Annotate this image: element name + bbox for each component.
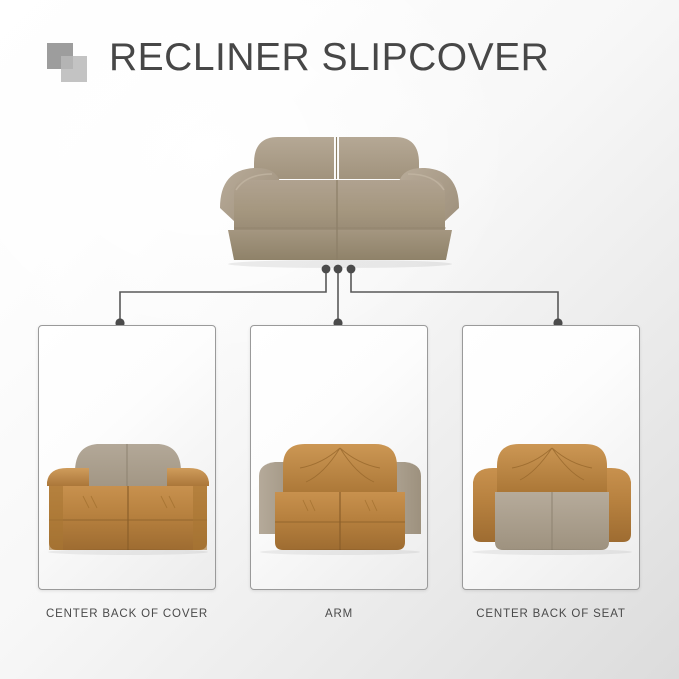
detail-card-center-back-of-seat[interactable]: [462, 325, 640, 590]
page-background: RECLINER SLIPCOVER: [0, 0, 679, 679]
detail-card-arm[interactable]: [250, 325, 428, 590]
card-label-center-back-of-cover: CENTER BACK OF COVER: [38, 608, 216, 620]
hero-slipcover-sofa-image: [206, 118, 474, 270]
page-title: RECLINER SLIPCOVER: [109, 36, 549, 80]
card-label-center-back-of-seat: CENTER BACK OF SEAT: [462, 608, 640, 620]
sofa-illustration-center-back-of-cover: [39, 325, 216, 589]
detail-card-center-back-of-cover[interactable]: [38, 325, 216, 590]
overlapping-squares-logo-icon: [47, 43, 91, 83]
sofa-illustration-arm: [251, 325, 428, 589]
sofa-illustration-center-back-of-seat: [463, 325, 640, 589]
page-header: RECLINER SLIPCOVER: [47, 38, 647, 90]
card-label-arm: ARM: [250, 608, 428, 620]
logo-square-front-icon: [61, 56, 87, 82]
